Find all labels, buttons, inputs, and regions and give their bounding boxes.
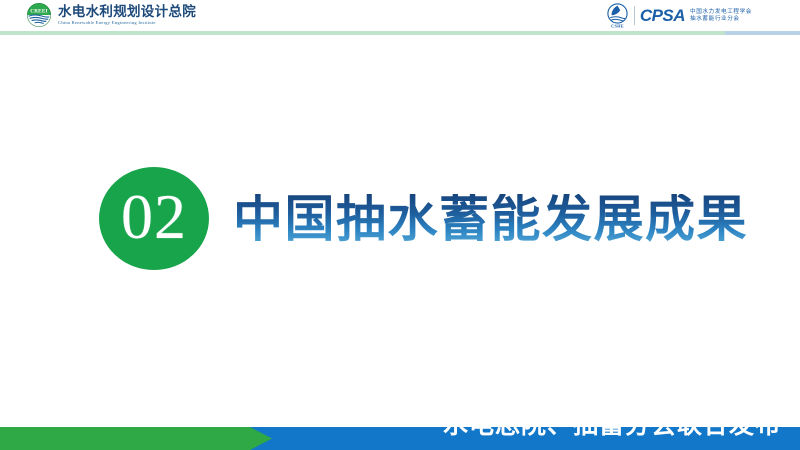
cpsa-name-cn-line2: 抽水蓄能行业分会 bbox=[690, 16, 752, 22]
institute-name-en: China Renewable Energy Engineering Insti… bbox=[58, 21, 196, 26]
brand-left-text: 水电水利规划设计总院 China Renewable Energy Engine… bbox=[58, 5, 196, 26]
institute-name-cn: 水电水利规划设计总院 bbox=[58, 5, 196, 19]
header-rule-blue bbox=[725, 31, 800, 35]
creei-emblem-icon: CREEI bbox=[26, 3, 52, 27]
brand-right: CSHE CPSA 中国水力发电工程学会 抽水蓄能行业分会 bbox=[606, 3, 752, 28]
slide-footer: 水电总院、抽蓄分会联合发布 bbox=[0, 427, 800, 450]
cpsa-acronym: CPSA bbox=[640, 7, 685, 24]
brand-divider bbox=[634, 6, 635, 25]
cpsa-name-cn: 中国水力发电工程学会 抽水蓄能行业分会 bbox=[690, 9, 752, 22]
section-number-badge: 02 bbox=[99, 167, 209, 270]
section-number: 02 bbox=[121, 185, 187, 253]
brand-left: CREEI 水电水利规划设计总院 China Renewable Energy … bbox=[26, 3, 196, 27]
slide-canvas: CREEI 水电水利规划设计总院 China Renewable Energy … bbox=[0, 0, 800, 450]
header-rule-green bbox=[0, 31, 725, 35]
slide-header: CREEI 水电水利规划设计总院 China Renewable Energy … bbox=[0, 0, 800, 31]
footer-green-band bbox=[0, 427, 272, 450]
svg-text:CREEI: CREEI bbox=[30, 9, 47, 15]
svg-text:CSHE: CSHE bbox=[611, 23, 624, 28]
section-heading-block: 02 中国抽水蓄能发展成果 bbox=[99, 167, 748, 270]
section-title: 中国抽水蓄能发展成果 bbox=[233, 194, 748, 244]
cshe-emblem-icon: CSHE bbox=[606, 3, 629, 28]
footer-credit-text: 水电总院、抽蓄分会联合发布 bbox=[443, 413, 781, 438]
